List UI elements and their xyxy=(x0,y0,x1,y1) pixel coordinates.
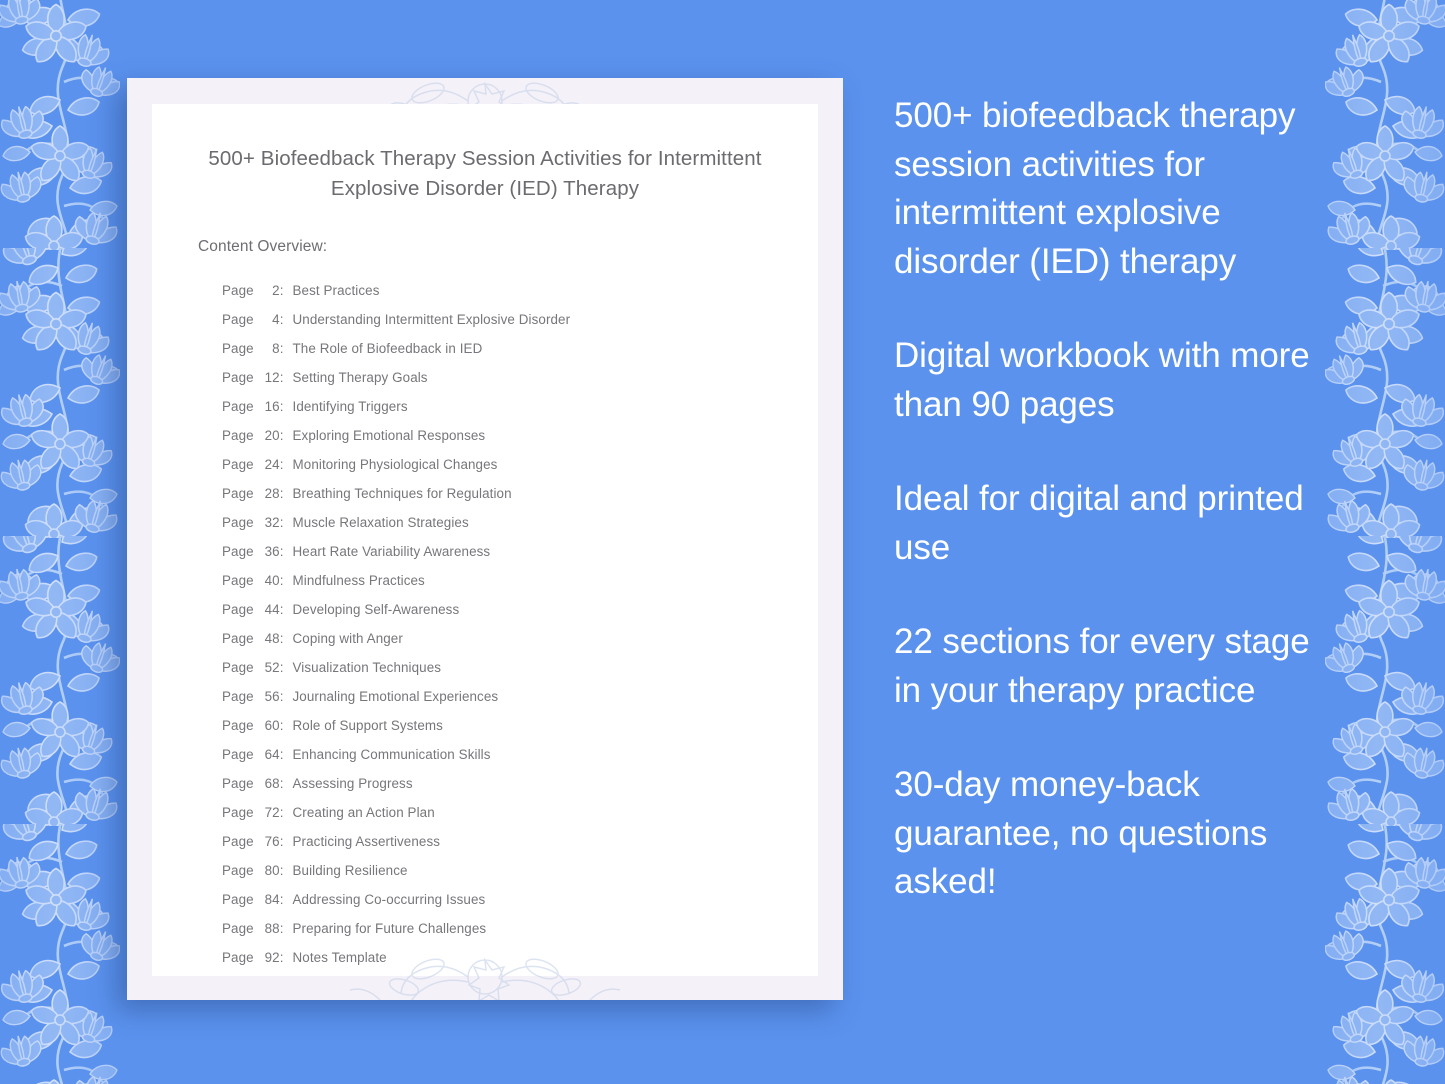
toc-entry: Page64:Enhancing Communication Skills xyxy=(222,740,818,769)
toc-page-word: Page xyxy=(222,508,254,537)
toc-entry-title: Understanding Intermittent Explosive Dis… xyxy=(293,305,571,334)
toc-entry: Page56:Journaling Emotional Experiences xyxy=(222,682,818,711)
document-card: 500+ Biofeedback Therapy Session Activit… xyxy=(127,78,843,1000)
toc-page-number: 32 xyxy=(258,508,280,537)
toc-page-number: 4 xyxy=(258,305,280,334)
toc-entry: Page36:Heart Rate Variability Awareness xyxy=(222,537,818,566)
toc-entry: Page2:Best Practices xyxy=(222,276,818,305)
toc-colon: : xyxy=(280,914,284,943)
toc-entry: Page12:Setting Therapy Goals xyxy=(222,363,818,392)
toc-entry-title: Exploring Emotional Responses xyxy=(293,421,486,450)
toc-colon: : xyxy=(280,769,284,798)
toc-entry: Page40:Mindfulness Practices xyxy=(222,566,818,595)
toc-colon: : xyxy=(280,885,284,914)
toc-entry-title: Muscle Relaxation Strategies xyxy=(293,508,469,537)
toc-page-number: 48 xyxy=(258,624,280,653)
toc-page-word: Page xyxy=(222,624,254,653)
toc-page-number: 20 xyxy=(258,421,280,450)
toc-page-number: 12 xyxy=(258,363,280,392)
toc-colon: : xyxy=(280,740,284,769)
toc-page-word: Page xyxy=(222,711,254,740)
toc-colon: : xyxy=(280,276,284,305)
toc-page-number: 24 xyxy=(258,450,280,479)
page-title: 500+ Biofeedback Therapy Session Activit… xyxy=(152,104,818,204)
toc-page-word: Page xyxy=(222,885,254,914)
toc-entry: Page32:Muscle Relaxation Strategies xyxy=(222,508,818,537)
toc-page-word: Page xyxy=(222,392,254,421)
toc-entry-title: Preparing for Future Challenges xyxy=(293,914,487,943)
toc-entry-title: Breathing Techniques for Regulation xyxy=(293,479,512,508)
toc-page-word: Page xyxy=(222,566,254,595)
toc-entry-title: The Role of Biofeedback in IED xyxy=(293,334,483,363)
toc-entry: Page80:Building Resilience xyxy=(222,856,818,885)
toc-entry: Page28:Breathing Techniques for Regulati… xyxy=(222,479,818,508)
toc-page-number: 44 xyxy=(258,595,280,624)
toc-colon: : xyxy=(280,798,284,827)
toc-page-word: Page xyxy=(222,740,254,769)
toc-page-word: Page xyxy=(222,856,254,885)
toc-entry-title: Visualization Techniques xyxy=(293,653,442,682)
toc-entry: Page4:Understanding Intermittent Explosi… xyxy=(222,305,818,334)
toc-entry: Page84:Addressing Co-occurring Issues xyxy=(222,885,818,914)
toc-colon: : xyxy=(280,363,284,392)
marketing-paragraph: 500+ biofeedback therapy session activit… xyxy=(894,92,1326,286)
marketing-paragraph: 22 sections for every stage in your ther… xyxy=(894,618,1326,715)
toc-page-word: Page xyxy=(222,595,254,624)
toc-page-word: Page xyxy=(222,334,254,363)
toc-entry-title: Best Practices xyxy=(293,276,380,305)
toc-page-number: 64 xyxy=(258,740,280,769)
toc-entry-title: Creating an Action Plan xyxy=(293,798,435,827)
toc-entry-title: Journaling Emotional Experiences xyxy=(293,682,499,711)
floral-vine-icon-left xyxy=(0,0,120,1084)
toc-page-number: 56 xyxy=(258,682,280,711)
toc-colon: : xyxy=(280,711,284,740)
toc-page-number: 60 xyxy=(258,711,280,740)
toc-page-number: 80 xyxy=(258,856,280,885)
content-overview-label: Content Overview: xyxy=(152,204,818,256)
toc-page-number: 36 xyxy=(258,537,280,566)
toc-colon: : xyxy=(280,421,284,450)
toc-colon: : xyxy=(280,392,284,421)
toc-entry-title: Enhancing Communication Skills xyxy=(293,740,491,769)
toc-page-number: 84 xyxy=(258,885,280,914)
toc-entry-title: Mindfulness Practices xyxy=(293,566,425,595)
toc-entry-title: Monitoring Physiological Changes xyxy=(293,450,498,479)
toc-colon: : xyxy=(280,334,284,363)
toc-page-number: 2 xyxy=(258,276,280,305)
toc-entry: Page60:Role of Support Systems xyxy=(222,711,818,740)
marketing-paragraph: Digital workbook with more than 90 pages xyxy=(894,332,1326,429)
toc-page-number: 28 xyxy=(258,479,280,508)
toc-page-word: Page xyxy=(222,914,254,943)
toc-colon: : xyxy=(280,450,284,479)
toc-page-number: 68 xyxy=(258,769,280,798)
toc-colon: : xyxy=(280,856,284,885)
floral-vine-icon-right xyxy=(1325,0,1445,1084)
toc-page-number: 76 xyxy=(258,827,280,856)
toc-page-word: Page xyxy=(222,305,254,334)
table-of-contents-list: Page2:Best PracticesPage4:Understanding … xyxy=(152,256,818,972)
toc-colon: : xyxy=(280,682,284,711)
toc-entry: Page8:The Role of Biofeedback in IED xyxy=(222,334,818,363)
toc-entry-title: Developing Self-Awareness xyxy=(293,595,460,624)
toc-entry: Page16:Identifying Triggers xyxy=(222,392,818,421)
toc-page-word: Page xyxy=(222,682,254,711)
toc-page-word: Page xyxy=(222,827,254,856)
toc-colon: : xyxy=(280,943,284,972)
toc-colon: : xyxy=(280,595,284,624)
toc-page-number: 92 xyxy=(258,943,280,972)
toc-page-number: 88 xyxy=(258,914,280,943)
toc-colon: : xyxy=(280,653,284,682)
toc-entry: Page72:Creating an Action Plan xyxy=(222,798,818,827)
toc-entry-title: Identifying Triggers xyxy=(293,392,408,421)
toc-entry: Page68:Assessing Progress xyxy=(222,769,818,798)
toc-colon: : xyxy=(280,566,284,595)
toc-colon: : xyxy=(280,537,284,566)
toc-page-word: Page xyxy=(222,798,254,827)
toc-page-number: 8 xyxy=(258,334,280,363)
toc-page-word: Page xyxy=(222,537,254,566)
document-page: 500+ Biofeedback Therapy Session Activit… xyxy=(152,104,818,976)
toc-page-word: Page xyxy=(222,769,254,798)
toc-colon: : xyxy=(280,305,284,334)
toc-entry-title: Assessing Progress xyxy=(293,769,413,798)
toc-entry: Page88:Preparing for Future Challenges xyxy=(222,914,818,943)
toc-colon: : xyxy=(280,624,284,653)
toc-entry: Page48:Coping with Anger xyxy=(222,624,818,653)
marketing-paragraph: 30-day money-back guarantee, no question… xyxy=(894,761,1326,907)
toc-page-number: 52 xyxy=(258,653,280,682)
toc-page-word: Page xyxy=(222,653,254,682)
toc-colon: : xyxy=(280,827,284,856)
toc-page-word: Page xyxy=(222,479,254,508)
toc-entry-title: Practicing Assertiveness xyxy=(293,827,441,856)
toc-entry-title: Role of Support Systems xyxy=(293,711,443,740)
toc-page-number: 16 xyxy=(258,392,280,421)
toc-entry: Page44:Developing Self-Awareness xyxy=(222,595,818,624)
toc-colon: : xyxy=(280,508,284,537)
toc-page-word: Page xyxy=(222,421,254,450)
toc-entry: Page20:Exploring Emotional Responses xyxy=(222,421,818,450)
toc-entry-title: Notes Template xyxy=(293,943,387,972)
toc-page-number: 40 xyxy=(258,566,280,595)
toc-entry-title: Heart Rate Variability Awareness xyxy=(293,537,491,566)
toc-page-number: 72 xyxy=(258,798,280,827)
toc-entry-title: Setting Therapy Goals xyxy=(293,363,428,392)
toc-page-word: Page xyxy=(222,363,254,392)
toc-page-word: Page xyxy=(222,450,254,479)
toc-colon: : xyxy=(280,479,284,508)
toc-entry: Page76:Practicing Assertiveness xyxy=(222,827,818,856)
toc-page-word: Page xyxy=(222,276,254,305)
toc-entry: Page24:Monitoring Physiological Changes xyxy=(222,450,818,479)
toc-entry: Page92:Notes Template xyxy=(222,943,818,972)
toc-page-word: Page xyxy=(222,943,254,972)
marketing-column: 500+ biofeedback therapy session activit… xyxy=(894,92,1326,907)
toc-entry-title: Addressing Co-occurring Issues xyxy=(293,885,486,914)
toc-entry-title: Building Resilience xyxy=(293,856,408,885)
marketing-paragraph: Ideal for digital and printed use xyxy=(894,475,1326,572)
toc-entry: Page52:Visualization Techniques xyxy=(222,653,818,682)
toc-entry-title: Coping with Anger xyxy=(293,624,403,653)
